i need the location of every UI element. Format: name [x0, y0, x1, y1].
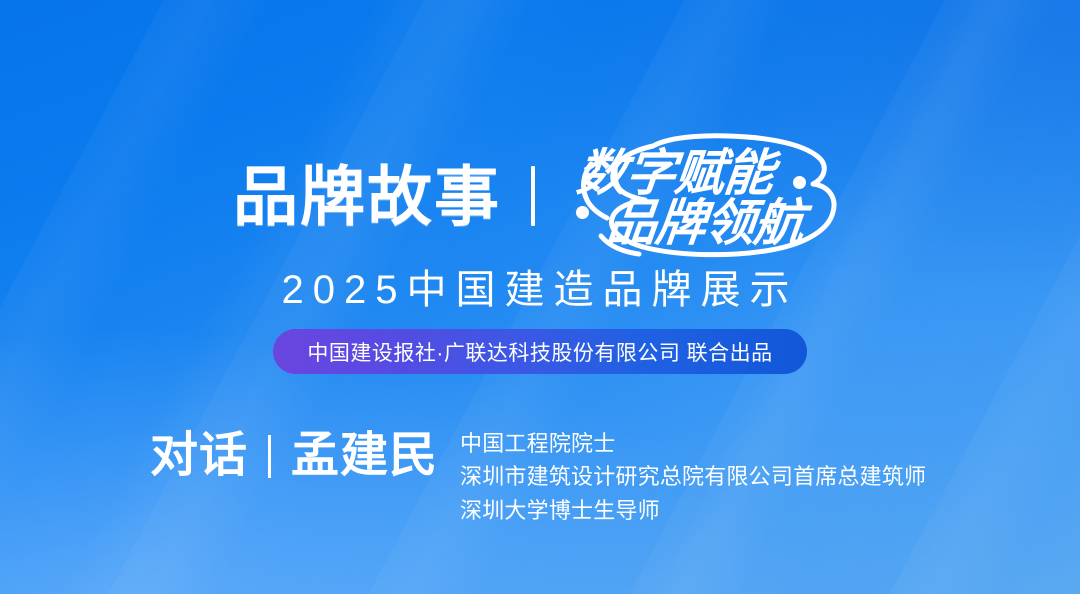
slogan-line-2: 品牌领航: [604, 198, 805, 248]
dialogue-label: 对话: [150, 432, 248, 480]
slogan-line-1: 数字赋能: [574, 148, 775, 198]
credential-line-1: 中国工程院院士: [460, 427, 926, 460]
header-logo-row: 品牌故事 数字赋能 品牌领航: [0, 128, 1080, 264]
slogan-lockup: 数字赋能 品牌领航: [561, 132, 847, 260]
slogan-text-group: 数字赋能 品牌领航: [561, 132, 847, 260]
dot-icon-top-right: [793, 176, 806, 189]
event-subtitle: 2025中国建造品牌展示: [0, 268, 1080, 312]
presenter-pill: 中国建设报社·广联达科技股份有限公司 联合出品: [273, 329, 806, 374]
vertical-divider-icon-guest: [268, 435, 271, 478]
dot-icon-bottom-left: [576, 206, 589, 219]
guest-name-row: 对话 孟建民: [150, 423, 438, 489]
vertical-divider-icon: [531, 166, 535, 226]
credential-line-2: 深圳市建筑设计研究总院有限公司首席总建筑师: [460, 460, 926, 493]
guest-name: 孟建民: [291, 432, 438, 480]
guest-credentials: 中国工程院院士 深圳市建筑设计研究总院有限公司首席总建筑师 深圳大学博士生导师: [460, 427, 926, 527]
brand-story-banner: 品牌故事 数字赋能 品牌领航 2025中国建造品牌展示 中国建设报社·广联达科技…: [0, 0, 1080, 594]
program-title: 品牌故事: [233, 164, 501, 229]
credential-line-3: 深圳大学博士生导师: [460, 494, 926, 527]
presenter-pill-wrapper: 中国建设报社·广联达科技股份有限公司 联合出品: [0, 329, 1080, 374]
guest-block: 对话 孟建民 中国工程院院士 深圳市建筑设计研究总院有限公司首席总建筑师 深圳大…: [150, 423, 926, 527]
